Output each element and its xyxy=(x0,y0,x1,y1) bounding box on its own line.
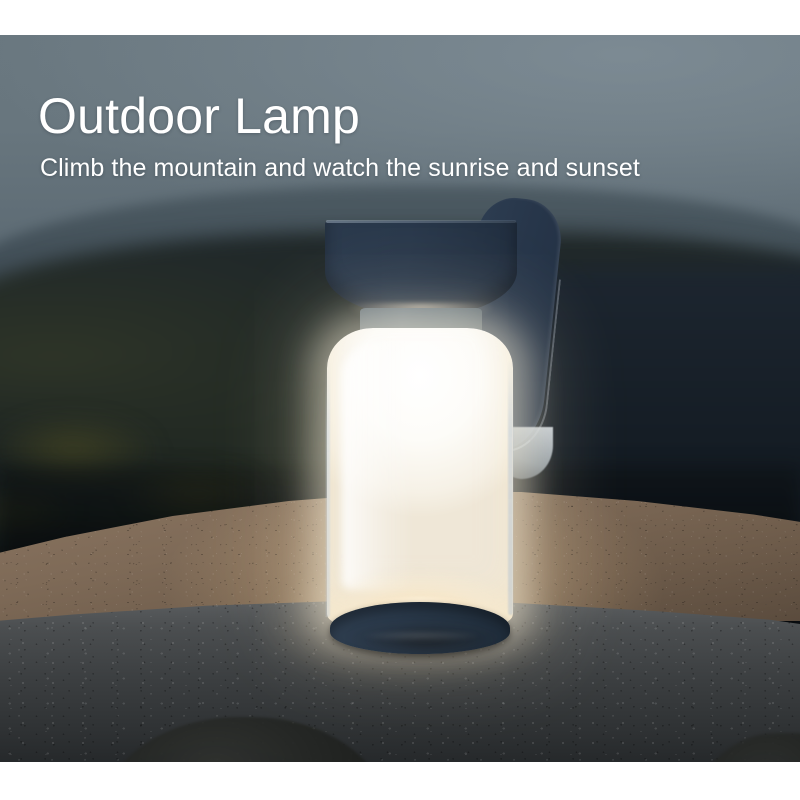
product-banner: Outdoor Lamp Climb the mountain and watc… xyxy=(0,0,800,800)
product-photo: Outdoor Lamp Climb the mountain and watc… xyxy=(0,35,800,762)
letterbox-bottom xyxy=(0,762,800,800)
lamp-contact-shadow xyxy=(320,620,530,660)
letterbox-top xyxy=(0,0,800,35)
page-subtitle: Climb the mountain and watch the sunrise… xyxy=(40,154,758,183)
cap-top-edge-highlight xyxy=(326,220,516,223)
banner-text-block: Outdoor Lamp Climb the mountain and watc… xyxy=(38,91,758,183)
page-title: Outdoor Lamp xyxy=(38,91,758,142)
diffuser-sheen xyxy=(342,340,414,590)
